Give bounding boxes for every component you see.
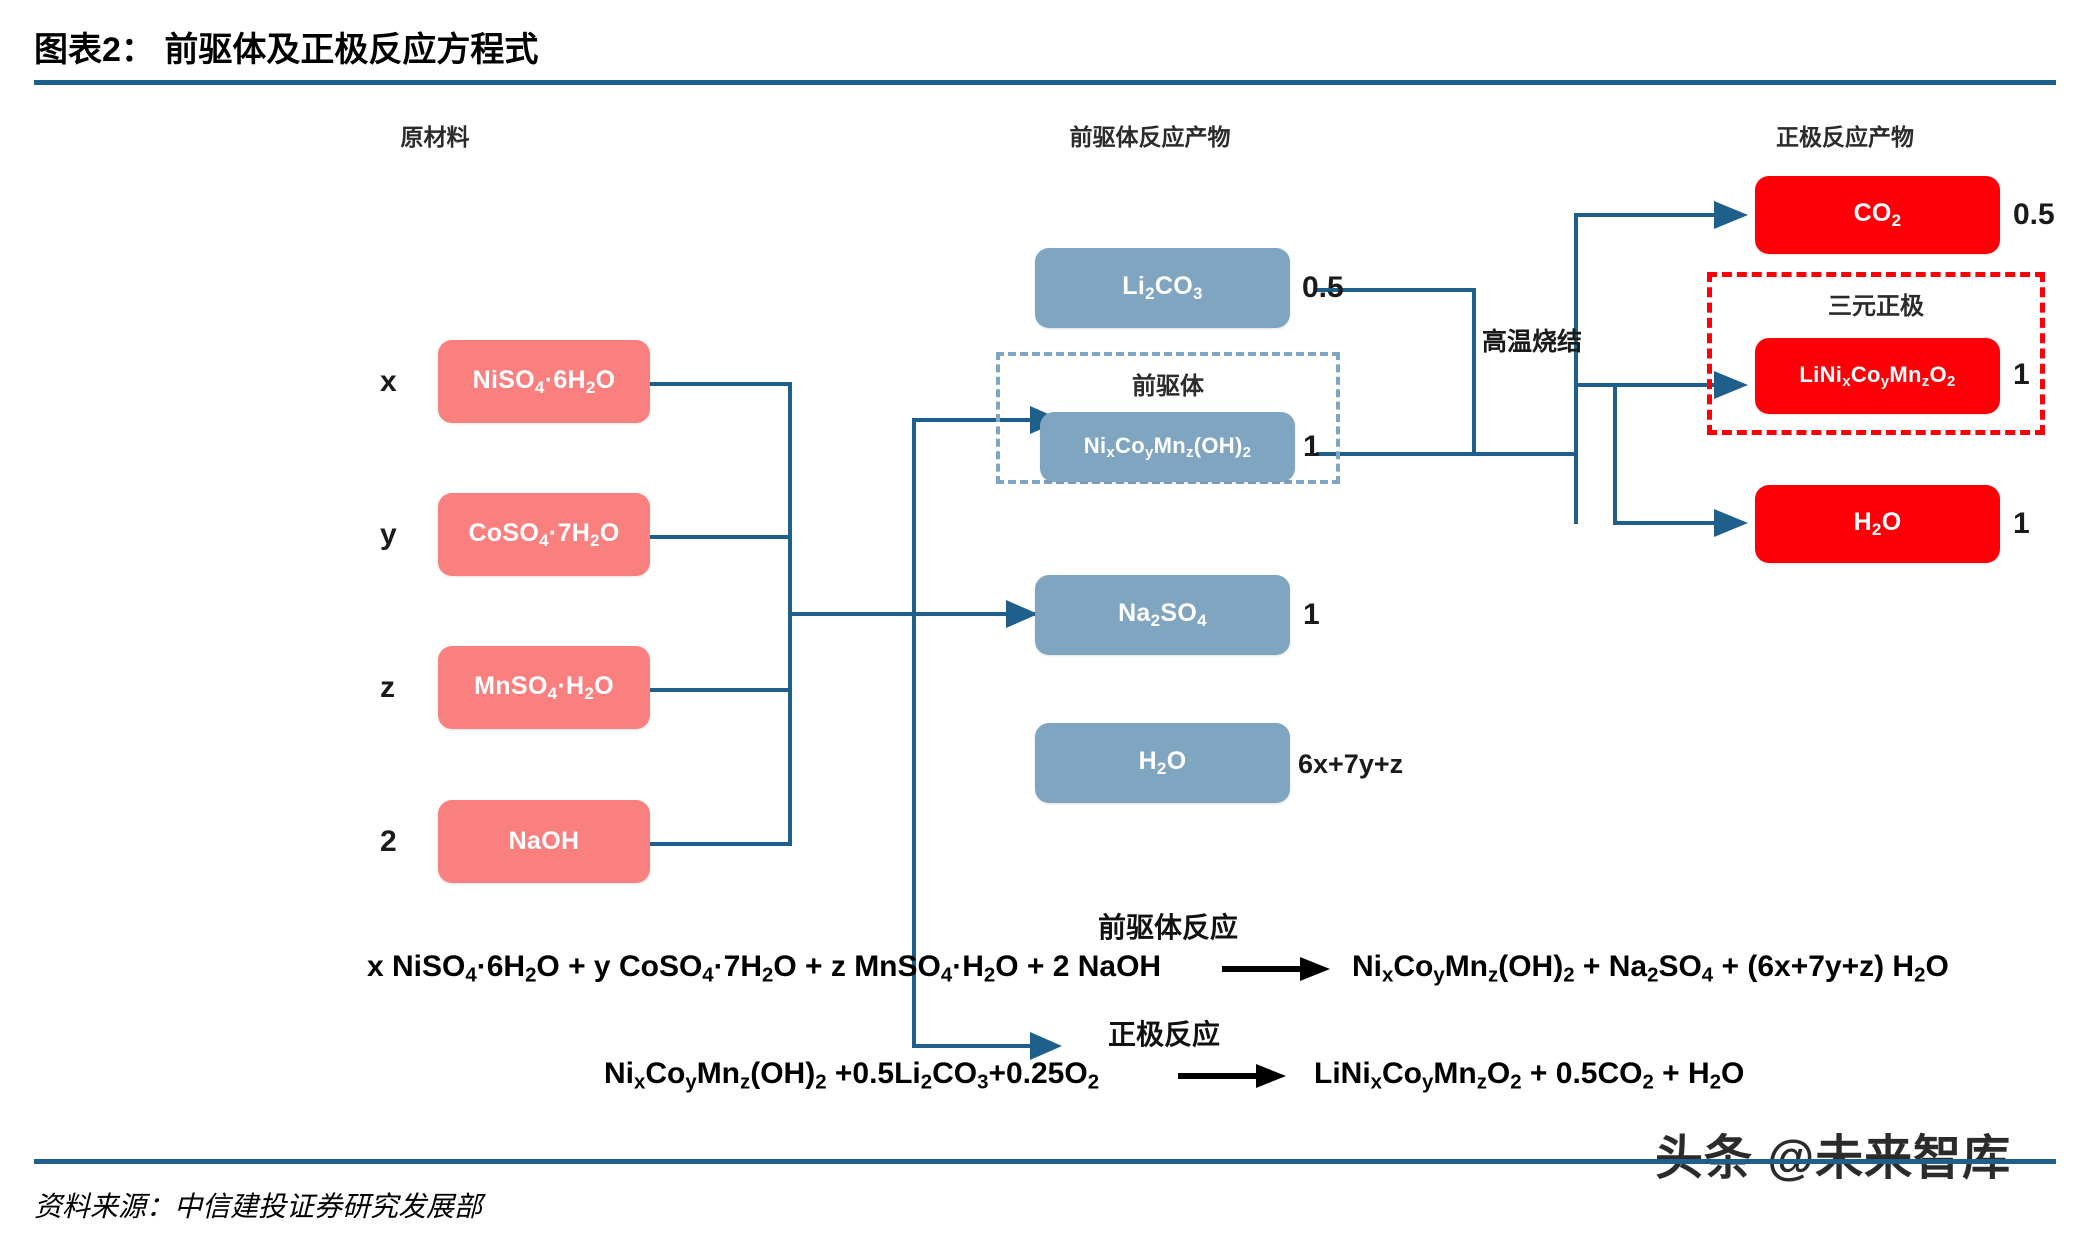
wire-to-sinter <box>1472 452 1578 456</box>
page-title: 图表2： 前驱体及正极反应方程式 <box>34 22 538 71</box>
equation-2-left: NixCoyMnz(OH)2 +0.5Li2CO3+0.25O2 <box>604 1057 1099 1095</box>
node-precursor-label: NixCoyMnz(OH)2 <box>1084 433 1251 461</box>
node-coso4-label: CoSO4·7H2O <box>468 519 619 551</box>
wire-branch-to-h2o <box>912 1044 1030 1048</box>
node-h2o-blue[interactable]: H2O <box>1035 723 1290 803</box>
equation-2-label: 正极反应 <box>1108 1013 1220 1053</box>
process-label-sintering: 高温烧结 <box>1482 322 1582 358</box>
equation-1-arrow <box>1222 952 1332 986</box>
node-h2o-red[interactable]: H2O <box>1755 485 2000 563</box>
wire-mid-stub <box>1574 383 1616 387</box>
coefficient-li2co3: 0.5 <box>1302 271 1344 305</box>
group-label-precursor: 前驱体 <box>996 366 1340 401</box>
column-header-precursor-products: 前驱体反应产物 <box>1005 118 1295 152</box>
wire-to-lini <box>1613 383 1714 387</box>
node-h2o-red-label: H2O <box>1854 508 1902 540</box>
equation-2-right: LiNixCoyMnzO2 + 0.5CO2 + H2O <box>1314 1057 1744 1095</box>
footer-divider <box>34 1159 2056 1164</box>
node-mnso4[interactable]: MnSO4·H2O <box>438 646 650 729</box>
coefficient-naoh: 2 <box>380 825 397 859</box>
wire-to-h2o-red <box>1613 521 1714 525</box>
wire-to-h2o-drop <box>1613 383 1617 525</box>
wire-li2co3-down <box>1472 288 1476 452</box>
coefficient-na2so4: 1 <box>1303 598 1320 632</box>
equation-2-arrow <box>1178 1059 1288 1093</box>
node-precursor-nicomn-oh2[interactable]: NixCoyMnz(OH)2 <box>1040 412 1295 482</box>
node-mnso4-label: MnSO4·H2O <box>474 672 614 704</box>
coefficient-co2: 0.5 <box>2013 198 2055 232</box>
coefficient-mnso4: z <box>380 671 395 705</box>
node-lini-x-co-y-mn-z-o2[interactable]: LiNixCoyMnzO2 <box>1755 338 2000 414</box>
figure-page: 图表2： 前驱体及正极反应方程式 原材料 前驱体反应产物 正极反应产物 <box>0 0 2090 1236</box>
watermark: 头条 @未来智库 <box>1655 1118 2011 1188</box>
column-header-cathode-products: 正极反应产物 <box>1700 118 1990 152</box>
node-naoh[interactable]: NaOH <box>438 800 650 883</box>
equation-1-left: x NiSO4·6H2O + y CoSO4·7H2O + z MnSO4·H2… <box>367 950 1161 988</box>
equation-1-label: 前驱体反应 <box>1098 906 1238 946</box>
coefficient-niso4: x <box>380 365 397 399</box>
node-naoh-label: NaOH <box>509 827 580 856</box>
source-note: 资料来源：中信建投证券研究发展部 <box>34 1185 482 1225</box>
node-li2co3[interactable]: Li2CO3 <box>1035 248 1290 328</box>
arrowhead-co2 <box>1714 201 1748 229</box>
wire-to-co2 <box>1574 213 1714 217</box>
node-na2so4[interactable]: Na2SO4 <box>1035 575 1290 655</box>
coefficient-ternary: 1 <box>2013 358 2030 392</box>
column-header-raw-materials: 原材料 <box>330 118 540 152</box>
equation-1-right: NixCoyMnz(OH)2 + Na2SO4 + (6x+7y+z) H2O <box>1352 950 1949 988</box>
wire-precursor-out <box>1316 452 1476 456</box>
node-na2so4-label: Na2SO4 <box>1118 599 1207 631</box>
node-niso4-label: NiSO4·6H2O <box>473 366 616 398</box>
node-h2o-blue-label: H2O <box>1139 747 1187 779</box>
node-co2-label: CO2 <box>1854 199 1902 231</box>
coefficient-h2o-red: 1 <box>2013 507 2030 541</box>
header-divider <box>34 80 2056 85</box>
wire-sinter-vertical <box>1574 213 1578 524</box>
node-li2co3-label: Li2CO3 <box>1122 272 1202 304</box>
node-ternary-label: LiNixCoyMnzO2 <box>1799 362 1955 390</box>
coefficient-coso4: y <box>380 518 397 552</box>
node-coso4[interactable]: CoSO4·7H2O <box>438 493 650 576</box>
node-co2[interactable]: CO2 <box>1755 176 2000 254</box>
coefficient-precursor: 1 <box>1303 430 1320 464</box>
node-niso4[interactable]: NiSO4·6H2O <box>438 340 650 423</box>
arrowhead-h2o-red <box>1714 509 1748 537</box>
group-label-ternary-cathode: 三元正极 <box>1707 286 2045 321</box>
arrowhead-h2o-blue <box>1030 1032 1062 1060</box>
coefficient-h2o-blue: 6x+7y+z <box>1298 749 1403 780</box>
